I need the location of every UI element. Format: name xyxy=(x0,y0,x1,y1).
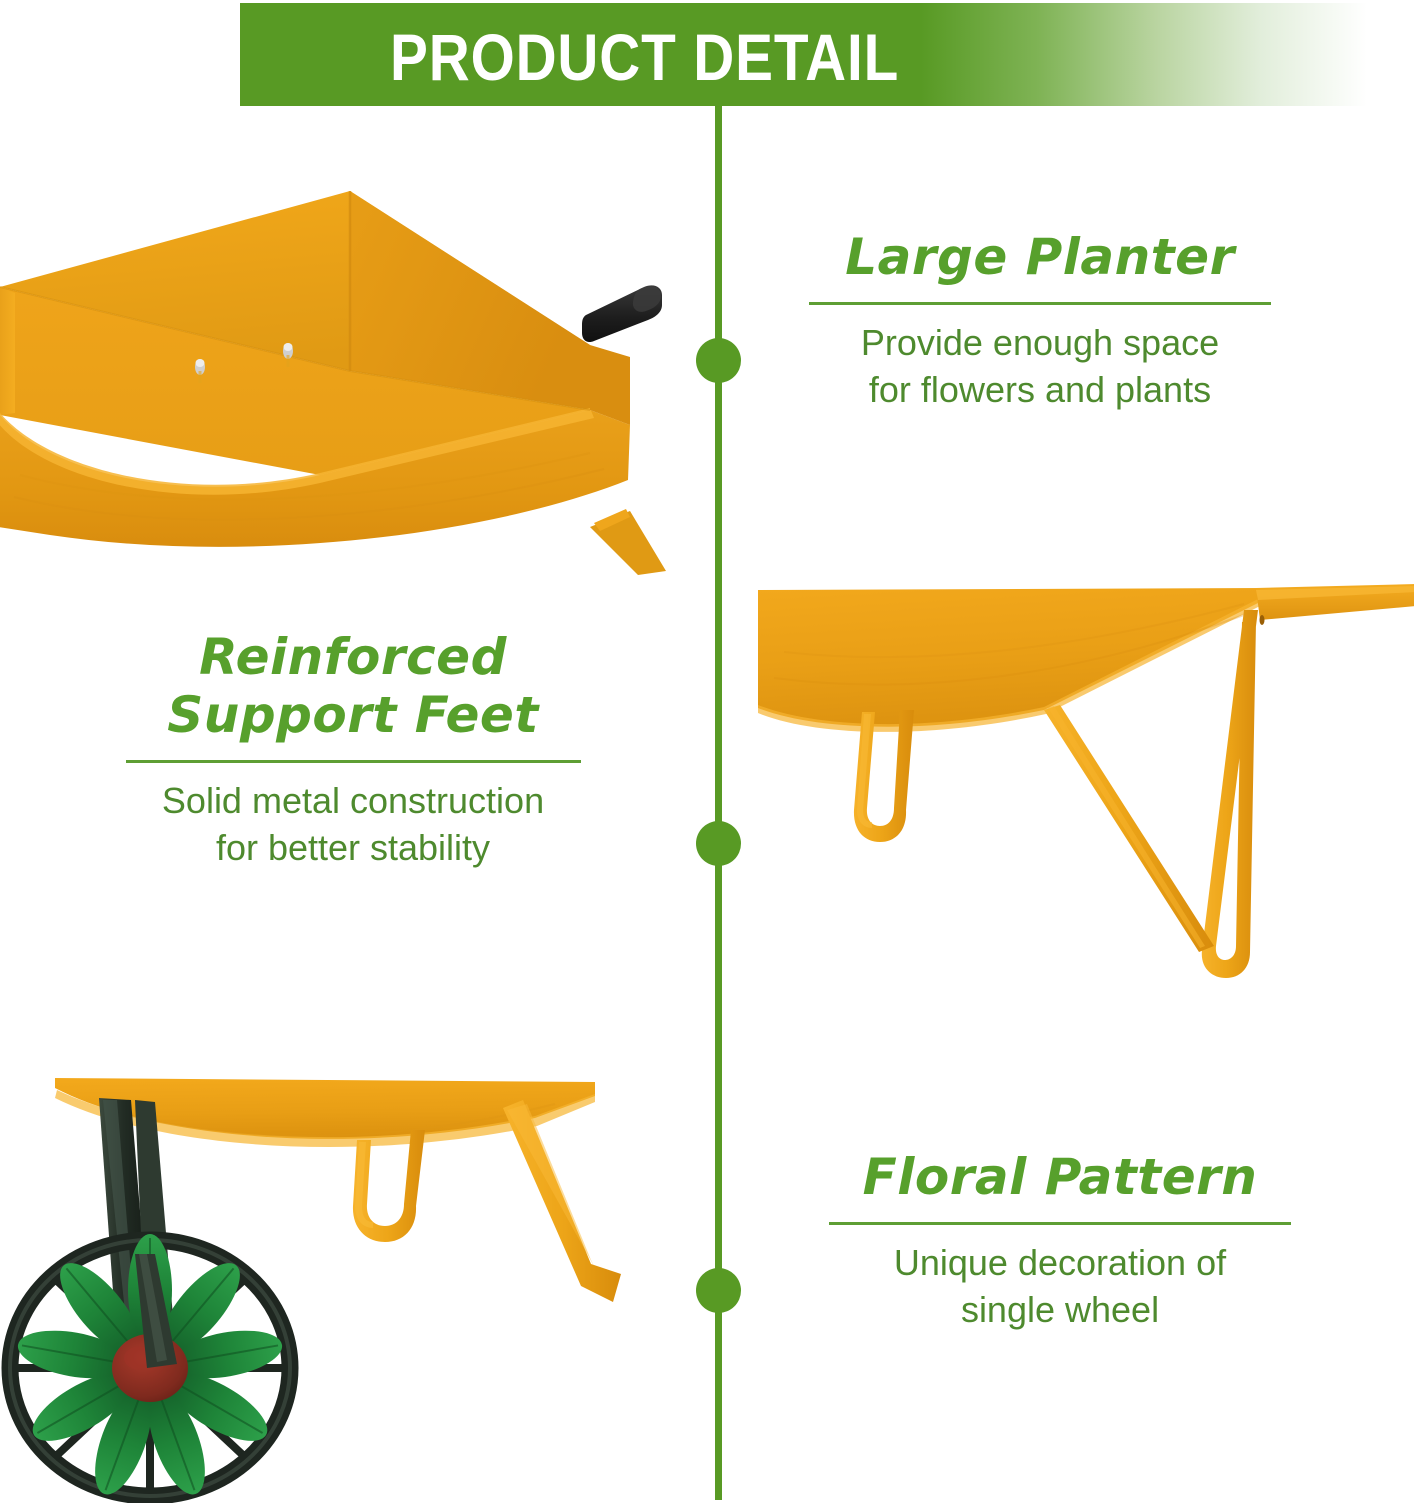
feature-body-line: for better stability xyxy=(68,824,638,871)
tray-illustration xyxy=(0,175,680,575)
feature-title: Large Planter xyxy=(760,228,1320,286)
feature-divider xyxy=(126,760,581,763)
feature-title-line: Reinforced xyxy=(68,628,638,686)
page-title: PRODUCT DETAIL xyxy=(390,7,899,107)
feature-block-large-planter: Large Planter Provide enough space for f… xyxy=(760,228,1320,413)
feature-body-line: for flowers and plants xyxy=(760,366,1320,413)
product-photo-support-feet xyxy=(744,560,1414,980)
feature-title-line: Support Feet xyxy=(68,686,638,744)
feature-body-line: Provide enough space xyxy=(760,319,1320,366)
feature-divider xyxy=(809,302,1271,305)
product-photo-tray xyxy=(0,175,680,575)
wheel xyxy=(10,1234,290,1501)
timeline-dot-marker xyxy=(696,1268,741,1313)
feature-block-floral-pattern: Floral Pattern Unique decoration of sing… xyxy=(780,1148,1340,1333)
feature-divider xyxy=(829,1222,1291,1225)
handle-grip-icon xyxy=(582,285,662,342)
feature-body-line: Unique decoration of xyxy=(780,1239,1340,1286)
floral-wheel-illustration xyxy=(0,1078,685,1503)
product-photo-wheel xyxy=(0,1078,685,1503)
feature-block-support-feet: Reinforced Support Feet Solid metal cons… xyxy=(68,628,638,871)
support-feet-illustration xyxy=(744,560,1414,980)
timeline-dot-marker xyxy=(696,821,741,866)
timeline-dot-marker xyxy=(696,338,741,383)
feature-title: Floral Pattern xyxy=(780,1148,1340,1206)
feature-body-line: single wheel xyxy=(780,1286,1340,1333)
header-banner: PRODUCT DETAIL xyxy=(240,3,1414,106)
feature-body-line: Solid metal construction xyxy=(68,777,638,824)
